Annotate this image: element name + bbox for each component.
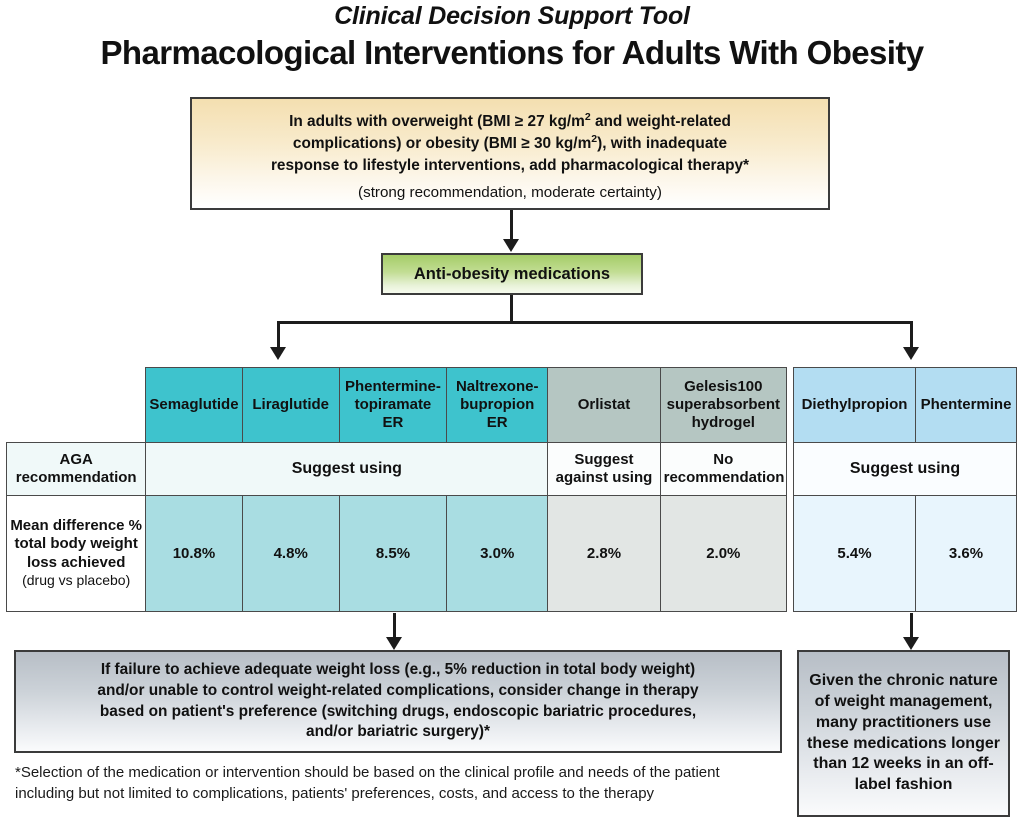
connector-line-meds-down [510,295,513,322]
naltrexone-bupropion-line1: Naltrexone- [456,378,539,395]
recommendation-main-text: In adults with overweight (BMI ≥ 27 kg/m… [206,110,814,176]
rec-line2-a: complications) or obesity (BMI ≥ 30 kg/m [293,136,591,153]
column-header-gelesis100: Gelesis100 superabsorbent hydrogel [660,368,786,443]
table-header-row: Semaglutide Liraglutide Phentermine- top… [7,368,787,443]
value-phentermine: 3.6% [916,496,1017,612]
mean-difference-sub-label: (drug vs placebo) [22,572,130,588]
column-header-semaglutide: Semaglutide [146,368,242,443]
no-recommendation-line1: No [713,451,733,468]
phentermine-topiramate-line2: topiramate [355,396,432,413]
rec-line1-b: and weight-related [591,113,731,130]
column-header-liraglutide: Liraglutide [242,368,339,443]
recommendation-right-group: Suggest using [794,443,1017,496]
phentermine-topiramate-line1: Phentermine- [345,378,441,395]
rec-line1-a: In adults with overweight (BMI ≥ 27 kg/m [289,113,585,130]
page-title: Pharmacological Interventions for Adults… [0,34,1024,72]
column-header-phentermine: Phentermine [916,368,1017,443]
connector-line-right-branch [910,321,913,348]
chronic-management-box: Given the chronic nature of weight manag… [797,650,1010,817]
connector-arrow-rec-to-meds [503,239,519,252]
connector-arrow-table-to-failure [386,637,402,650]
table-row-aga-recommendation: AGA recommendation Suggest using Suggest… [7,443,787,496]
anti-obesity-medications-label: Anti-obesity medications [414,265,610,284]
column-header-diethylpropion: Diethylpropion [794,368,916,443]
suggest-against-line2: against using [556,469,653,486]
mean-difference-bold-label: Mean difference % total body weight loss… [10,517,142,571]
right-table-header-row: Diethylpropion Phentermine [794,368,1017,443]
naltrexone-bupropion-line3: ER [487,414,508,431]
connector-line-table-to-chronic [910,613,913,638]
failure-line1: If failure to achieve adequate weight lo… [101,661,695,678]
connector-line-table-to-failure [393,613,396,638]
column-header-naltrexone-bupropion: Naltrexone- bupropion ER [447,368,548,443]
table-row-mean-difference: Mean difference % total body weight loss… [7,496,787,612]
value-semaglutide: 10.8% [146,496,242,612]
failure-line3: based on patient's preference (switching… [100,703,696,720]
chronic-management-text: Given the chronic nature of weight manag… [807,671,1000,796]
main-medications-table: Semaglutide Liraglutide Phentermine- top… [6,367,787,612]
treatment-failure-box: If failure to achieve adequate weight lo… [14,650,782,753]
value-naltrexone-bupropion: 3.0% [447,496,548,612]
recommendation-box: In adults with overweight (BMI ≥ 27 kg/m… [190,97,830,210]
connector-arrow-table-to-chronic [903,637,919,650]
connector-arrow-left-branch [270,347,286,360]
connector-line-meds-split [277,321,913,324]
connector-line-rec-to-meds [510,210,513,240]
column-header-orlistat: Orlistat [548,368,660,443]
gelesis100-line3: hydrogel [692,414,755,431]
recommendation-suggest-using-group: Suggest using [146,443,548,496]
connector-line-left-branch [277,321,280,348]
value-gelesis100: 2.0% [660,496,786,612]
connector-arrow-right-branch [903,347,919,360]
treatment-failure-text: If failure to achieve adequate weight lo… [97,660,698,743]
right-medications-table: Diethylpropion Phentermine Suggest using… [793,367,1017,612]
kicker-title: Clinical Decision Support Tool [0,2,1024,31]
gelesis100-line2: superabsorbent [667,396,780,413]
suggest-against-line1: Suggest [574,451,633,468]
value-orlistat: 2.8% [548,496,660,612]
value-phentermine-topiramate: 8.5% [339,496,446,612]
decision-support-diagram: Clinical Decision Support Tool Pharmacol… [0,0,1024,829]
value-diethylpropion: 5.4% [794,496,916,612]
failure-line4: and/or bariatric surgery)* [306,723,490,740]
right-table-row-aga-recommendation: Suggest using [794,443,1017,496]
failure-line2: and/or unable to control weight-related … [97,682,698,699]
no-recommendation-line2: recommendation [664,469,785,486]
right-table-row-mean-difference: 5.4% 3.6% [794,496,1017,612]
rec-line3: response to lifestyle interventions, add… [271,157,749,174]
column-header-phentermine-topiramate: Phentermine- topiramate ER [339,368,446,443]
recommendation-orlistat: Suggest against using [548,443,660,496]
row-label-mean-difference: Mean difference % total body weight loss… [7,496,146,612]
anti-obesity-medications-box: Anti-obesity medications [381,253,643,295]
header-corner-spacer [7,368,146,443]
rec-line2-b: ), with inadequate [597,136,727,153]
recommendation-certainty: (strong recommendation, moderate certain… [206,183,814,203]
gelesis100-line1: Gelesis100 [684,378,762,395]
naltrexone-bupropion-line2: bupropion [460,396,534,413]
phentermine-topiramate-line3: ER [383,414,404,431]
row-label-aga-recommendation: AGA recommendation [7,443,146,496]
recommendation-gelesis100: No recommendation [660,443,786,496]
footnote: *Selection of the medication or interven… [15,762,775,804]
value-liraglutide: 4.8% [242,496,339,612]
